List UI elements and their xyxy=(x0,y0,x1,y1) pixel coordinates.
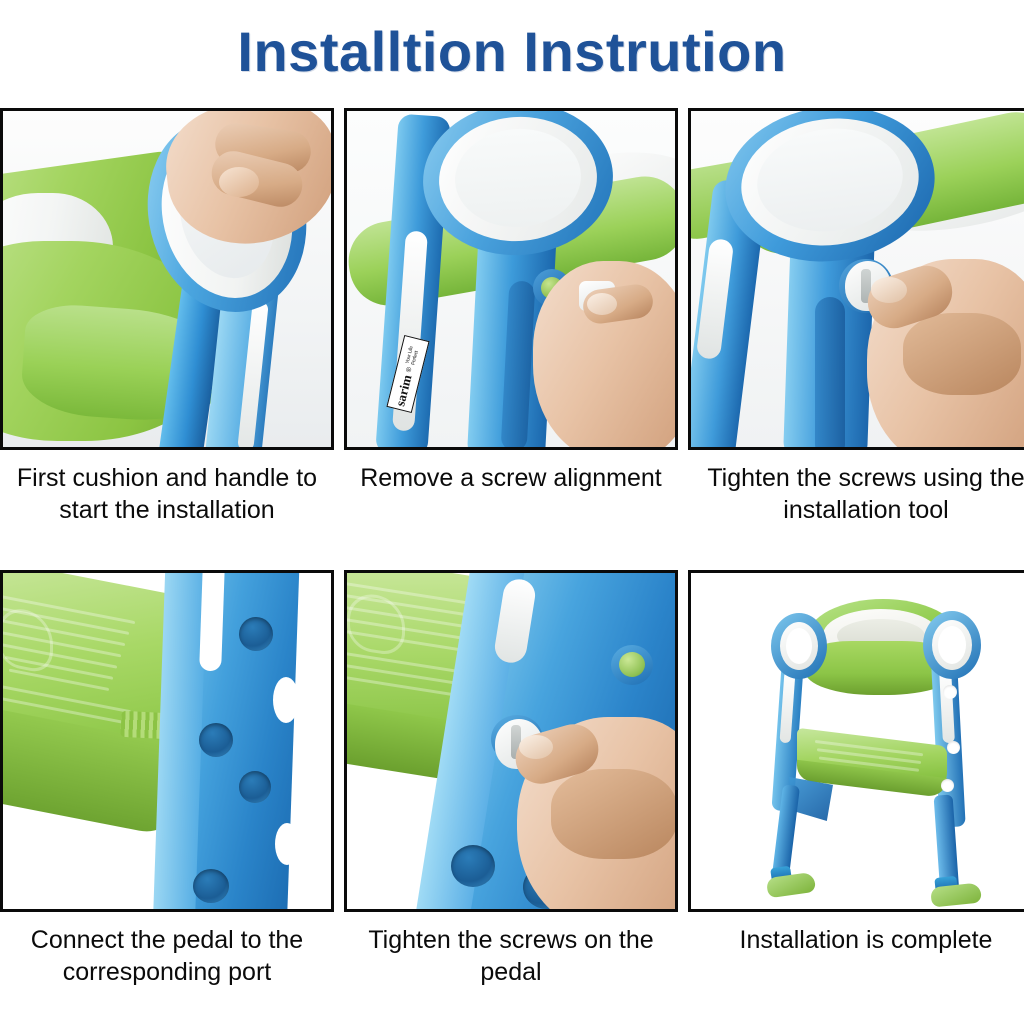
rail-notch xyxy=(273,677,299,723)
screw-cap xyxy=(947,741,960,754)
step-2-caption-text: Remove a screw alignment xyxy=(360,462,662,494)
rail-notch xyxy=(275,823,299,865)
step-5-photo-panel xyxy=(344,570,678,912)
step-4-caption-text: Connect the pedal to the corresponding p… xyxy=(7,924,327,988)
fingernail xyxy=(587,293,617,315)
step-2-photo-panel: sarim ® Your Life Perfect xyxy=(344,108,678,450)
brand-tagline: Your Life Perfect xyxy=(405,341,422,366)
rail-hole xyxy=(199,723,233,757)
rail-hole xyxy=(239,771,271,803)
handle-opening-left xyxy=(786,628,812,664)
step-4-photo-panel xyxy=(0,570,334,912)
knuckles xyxy=(903,313,1021,395)
frame-groove xyxy=(815,297,845,447)
step-5-caption: Tighten the screws on the pedal xyxy=(344,912,678,980)
step-3-image xyxy=(691,111,1024,447)
step-6-caption: Installation is complete xyxy=(688,912,1024,980)
brand-name: sarim xyxy=(392,373,415,408)
knuckles xyxy=(551,769,675,859)
registered-mark: ® xyxy=(405,366,413,373)
step-3-caption-text: Tighten the screws using the installatio… xyxy=(694,462,1024,526)
screw-cap xyxy=(943,685,957,699)
rail-hole xyxy=(239,617,273,651)
screw-cap xyxy=(941,779,954,792)
step-6-caption-text: Installation is complete xyxy=(740,924,993,956)
step-3-photo-panel xyxy=(688,108,1024,450)
step-1-photo-panel xyxy=(0,108,334,450)
step-2-image: sarim ® Your Life Perfect xyxy=(347,111,675,447)
page-title: Installtion Instrution xyxy=(237,24,786,80)
handle-opening-right xyxy=(938,626,966,664)
green-grommet xyxy=(619,652,645,677)
rail-hole xyxy=(193,869,229,903)
step-4-caption: Connect the pedal to the corresponding p… xyxy=(0,912,334,980)
step-3-caption: Tighten the screws using the installatio… xyxy=(688,450,1024,570)
fingernail xyxy=(219,167,259,197)
assembled-potty-ladder-seat xyxy=(747,589,997,899)
thumbnail xyxy=(519,735,553,759)
step-1-caption: First cushion and handle to start the in… xyxy=(0,450,334,570)
thumbnail xyxy=(871,277,907,303)
rail-hole xyxy=(451,845,495,887)
step-5-caption-text: Tighten the screws on the pedal xyxy=(351,924,671,988)
step-2-caption: Remove a screw alignment xyxy=(344,450,678,570)
step-6-photo-panel xyxy=(688,570,1024,912)
step-5-image xyxy=(347,573,675,909)
steps-grid: sarim ® Your Life Perfect xyxy=(0,108,1024,980)
page-header: Installtion Instrution xyxy=(0,0,1024,104)
step-6-image xyxy=(691,573,1024,909)
step-4-image xyxy=(3,573,331,909)
rail-slot-gap xyxy=(199,573,225,671)
step-1-caption-text: First cushion and handle to start the in… xyxy=(7,462,327,526)
step-1-image xyxy=(3,111,331,447)
instruction-sheet: Installtion Instrution xyxy=(0,0,1024,1024)
